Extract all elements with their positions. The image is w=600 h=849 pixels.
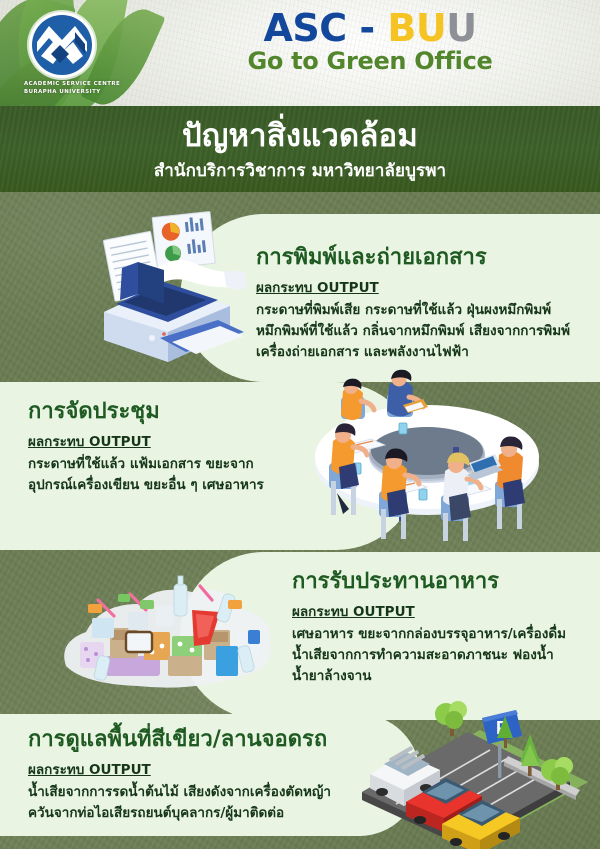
brand-name: ASC - BUU bbox=[160, 8, 580, 49]
section-text-meeting: การจัดประชุม ผลกระทบ OUTPUT กระดาษที่ใช้… bbox=[28, 398, 264, 496]
section-title-dining: การรับประทานอาหาร bbox=[292, 568, 566, 596]
logo-caption: ACADEMIC SERVICE CENTRE BURAPHA UNIVERSI… bbox=[24, 81, 100, 96]
meeting-table-illustration bbox=[295, 385, 560, 545]
title-band: ปัญหาสิ่งแวดล้อม สำนักบริการวิชาการ มหาว… bbox=[0, 106, 600, 192]
brand-segment-u: U bbox=[446, 6, 476, 50]
brand-segment-dash: - bbox=[347, 6, 388, 50]
asc-emblem-icon bbox=[29, 12, 95, 78]
body-line: อุปกรณ์เครื่องเขียน ขยะอื่น ๆ เศษอาหาร bbox=[28, 475, 264, 496]
section-output-label-meeting: ผลกระทบ OUTPUT bbox=[28, 430, 151, 452]
section-title-greenspace: การดูแลพื้นที่สีเขียว/ลานจอดรถ bbox=[28, 726, 331, 754]
section-output-label-dining: ผลกระทบ OUTPUT bbox=[292, 600, 415, 622]
page-subtitle: สำนักบริการวิชาการ มหาวิทยาลัยบูรพา bbox=[0, 157, 600, 184]
logo-caption-line1: ACADEMIC SERVICE CENTRE bbox=[24, 81, 100, 89]
section-body-dining: เศษอาหาร ขยะจากกล่องบรรจุอาหาร/เครื่องดื… bbox=[292, 624, 566, 687]
body-line: ควันจากท่อไอเสียรถยนต์บุคลากร/ผู้มาติดต่… bbox=[28, 803, 331, 824]
body-line: น้ำเสียจากการรดน้ำต้นไม้ เสียงดังจากเครื… bbox=[28, 782, 331, 803]
section-body-printing: กระดาษที่พิมพ์เสีย กระดาษที่ใช้แล้ว ฝุ่น… bbox=[256, 300, 570, 363]
parking-lot-illustration: P bbox=[340, 700, 595, 845]
brand-tagline: Go to Green Office bbox=[160, 47, 580, 75]
body-line: น้ำยาล้างจาน bbox=[292, 666, 566, 687]
logo-caption-line2: BURAPHA UNIVERSITY bbox=[24, 89, 100, 97]
section-text-printing: การพิมพ์และถ่ายเอกสาร ผลกระทบ OUTPUT กระ… bbox=[256, 244, 570, 363]
brand-segment-asc: ASC bbox=[263, 6, 346, 50]
section-output-label-printing: ผลกระทบ OUTPUT bbox=[256, 276, 379, 298]
page-title: ปัญหาสิ่งแวดล้อม bbox=[0, 106, 600, 155]
body-line: กระดาษที่พิมพ์เสีย กระดาษที่ใช้แล้ว ฝุ่น… bbox=[256, 300, 570, 321]
brand-segment-bu: BU bbox=[387, 6, 446, 50]
section-body-greenspace: น้ำเสียจากการรดน้ำต้นไม้ เสียงดังจากเครื… bbox=[28, 782, 331, 824]
body-line: เศษอาหาร ขยะจากกล่องบรรจุอาหาร/เครื่องดื… bbox=[292, 624, 566, 645]
section-body-meeting: กระดาษที่ใช้แล้ว แฟ้มเอกสาร ขยะจาก อุปกร… bbox=[28, 454, 264, 496]
brand-lockup: ASC - BUU Go to Green Office bbox=[160, 8, 580, 75]
section-text-dining: การรับประทานอาหาร ผลกระทบ OUTPUT เศษอาหา… bbox=[292, 568, 566, 687]
body-line: กระดาษที่ใช้แล้ว แฟ้มเอกสาร ขยะจาก bbox=[28, 454, 264, 475]
body-line: น้ำเสียจากการทำความสะอาดภาชนะ ฟองน้ำ bbox=[292, 645, 566, 666]
section-title-printing: การพิมพ์และถ่ายเอกสาร bbox=[256, 244, 570, 272]
body-line: หมึกพิมพ์ที่ใช้แล้ว กลิ่นจากหมึกพิมพ์ เส… bbox=[256, 321, 570, 342]
section-title-meeting: การจัดประชุม bbox=[28, 398, 264, 426]
plastic-waste-illustration bbox=[52, 570, 287, 700]
infographic-poster: ACADEMIC SERVICE CENTRE BURAPHA UNIVERSI… bbox=[0, 0, 600, 849]
printer-illustration bbox=[68, 212, 268, 382]
organization-logo: ACADEMIC SERVICE CENTRE BURAPHA UNIVERSI… bbox=[24, 12, 100, 100]
poster-header: ACADEMIC SERVICE CENTRE BURAPHA UNIVERSI… bbox=[0, 0, 600, 106]
body-line: เครื่องถ่ายเอกสาร และพลังงานไฟฟ้า bbox=[256, 342, 570, 363]
section-text-greenspace: การดูแลพื้นที่สีเขียว/ลานจอดรถ ผลกระทบ O… bbox=[28, 726, 331, 824]
section-output-label-greenspace: ผลกระทบ OUTPUT bbox=[28, 758, 151, 780]
